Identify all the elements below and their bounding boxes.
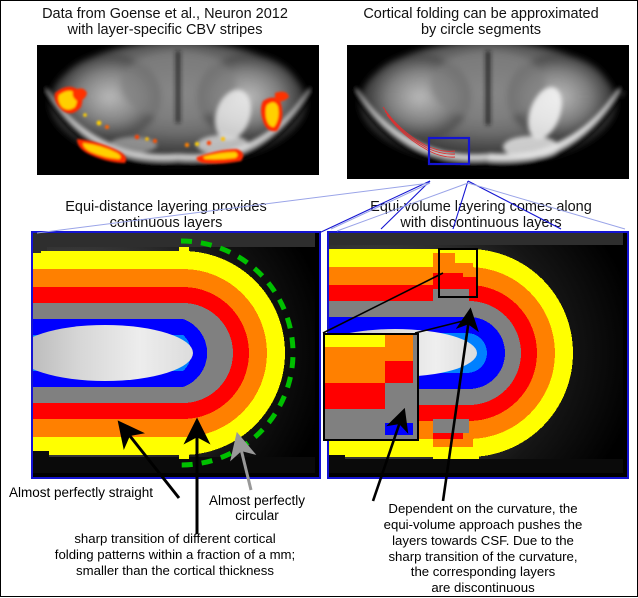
figure-root: Data from Goense et al., Neuron 2012 wit… xyxy=(1,1,637,596)
annotation-almost-circular: Almost perfectly circular xyxy=(191,493,323,523)
equi-distance-layering-panel xyxy=(31,231,321,479)
caption-top-right: Cortical folding can be approximated by … xyxy=(331,6,631,38)
brain-mri-cbv-image xyxy=(37,45,319,175)
annotation-almost-straight: Almost perfectly straight xyxy=(9,485,153,500)
annotation-sharp-transition: sharp transition of different cortical f… xyxy=(19,531,331,579)
inset-magnification-box xyxy=(323,333,419,441)
caption-top-left: Data from Goense et al., Neuron 2012 wit… xyxy=(15,6,315,38)
brain-mri-circle-segments-image xyxy=(347,45,629,179)
caption-mid-right: Equi-volume layering comes along with di… xyxy=(331,199,631,231)
caption-mid-left: Equi-distance layering provides continuo… xyxy=(19,199,313,231)
annotation-dependent-on-curvature: Dependent on the curvature, the equi-vol… xyxy=(333,501,633,596)
